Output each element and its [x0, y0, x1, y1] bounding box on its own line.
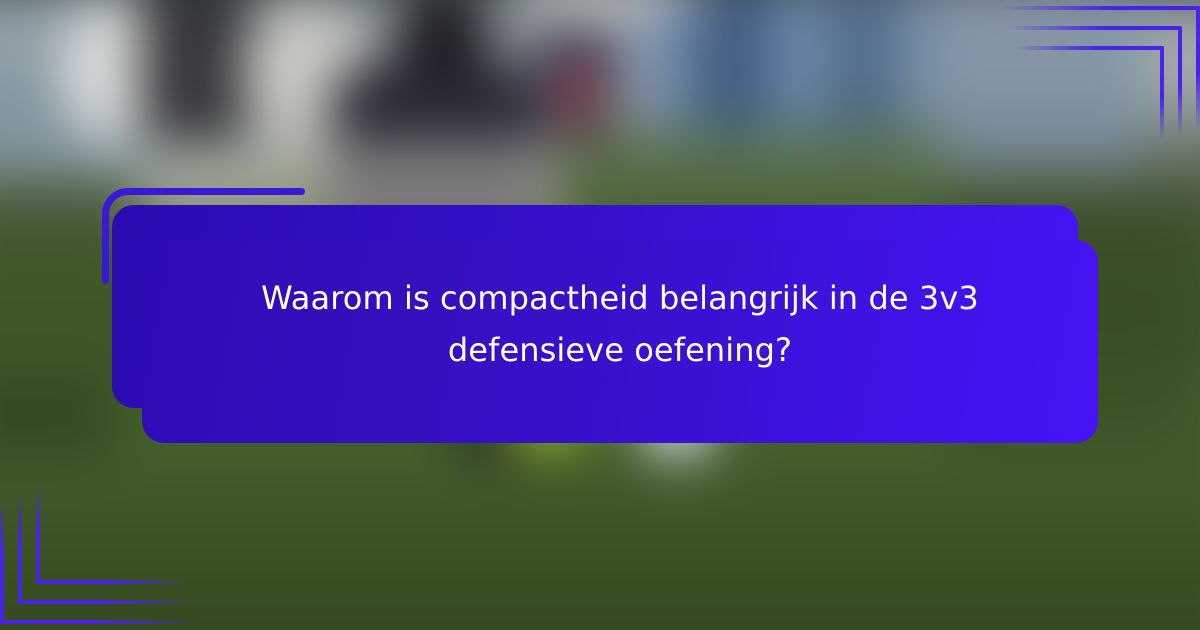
question-card-banner: Waarom is compactheid belangrijk in de 3…	[0, 0, 1200, 630]
background-billboard-shape	[700, 0, 770, 140]
question-text-container: Waarom is compactheid belangrijk in de 3…	[142, 205, 1098, 443]
background-shadow	[0, 370, 120, 460]
question-text: Waarom is compactheid belangrijk in de 3…	[220, 272, 1020, 376]
background-figure-shape	[140, 0, 250, 150]
